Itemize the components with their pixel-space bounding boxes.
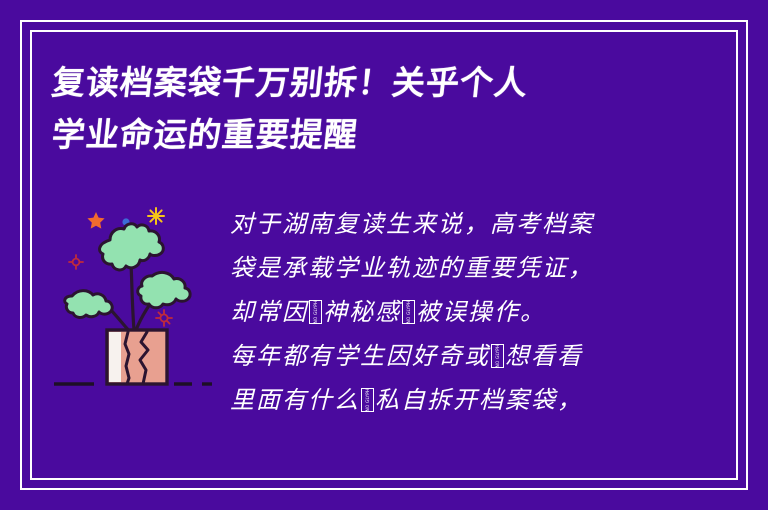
- body-line-5-part-b: 私自拆开档案袋，: [375, 386, 583, 414]
- body-line-3: 却常因神秘感被误操作。: [230, 290, 716, 334]
- headline-line-1: 复读档案袋千万别拆！关乎个人: [49, 57, 684, 109]
- content-row: 对于湖南复读生来说，高考档案 袋是承载学业轨迹的重要凭证， 却常因神秘感被误操作…: [52, 196, 716, 464]
- body-line-3-part-b: 神秘感: [323, 298, 401, 326]
- article-banner: 复读档案袋千万别拆！关乎个人 学业命运的重要提醒: [0, 0, 768, 510]
- body-line-4: 每年都有学生因好奇或想看看: [230, 334, 716, 378]
- missing-glyph-box: [309, 300, 322, 324]
- body-line-3-part-c: 被误操作。: [416, 298, 546, 326]
- body-line-2: 袋是承载学业轨迹的重要凭证，: [230, 246, 716, 290]
- missing-glyph-box: [402, 300, 415, 324]
- leaves: [65, 224, 190, 318]
- missing-glyph-box: [491, 344, 504, 368]
- body-line-4-part-b: 想看看: [505, 342, 583, 370]
- headline-line-2: 学业命运的重要提醒: [49, 109, 684, 161]
- body-line-5-part-a: 里面有什么: [230, 386, 360, 414]
- headline-block: 复读档案袋千万别拆！关乎个人 学业命运的重要提醒: [52, 57, 682, 161]
- body-line-5: 里面有什么私自拆开档案袋，: [230, 378, 716, 422]
- cracked-pot-plant-illustration: [52, 200, 220, 390]
- missing-glyph-box: [361, 388, 374, 412]
- body-line-4-part-a: 每年都有学生因好奇或: [230, 342, 490, 370]
- body-line-3-part-a: 却常因: [230, 298, 308, 326]
- body-copy-block: 对于湖南复读生来说，高考档案 袋是承载学业轨迹的重要凭证， 却常因神秘感被误操作…: [220, 196, 716, 422]
- body-line-1: 对于湖南复读生来说，高考档案: [230, 202, 716, 246]
- flower-pot: [107, 330, 167, 384]
